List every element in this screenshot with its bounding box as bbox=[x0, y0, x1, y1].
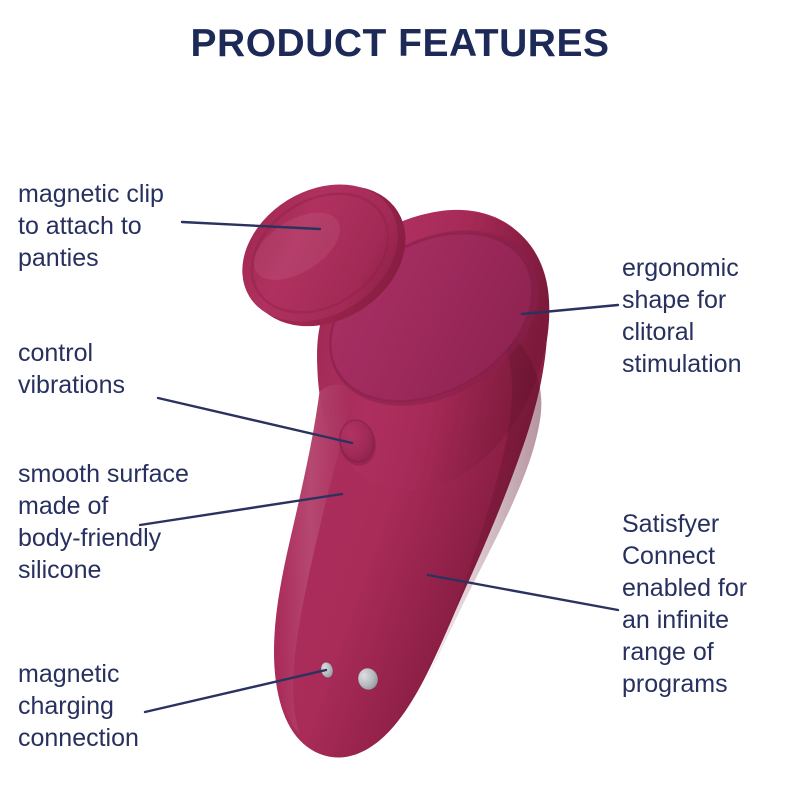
callout-control-vibrations: control vibrations bbox=[18, 337, 233, 401]
callout-magnetic-charging: magnetic charging connection bbox=[18, 658, 243, 754]
product-features-infographic: PRODUCT FEATURES bbox=[0, 0, 800, 800]
callout-magnetic-clip: magnetic clip to attach to panties bbox=[18, 178, 233, 274]
callout-smooth-surface: smooth surface made of body-friendly sil… bbox=[18, 458, 243, 586]
callout-ergonomic-shape: ergonomic shape for clitoral stimulation bbox=[622, 252, 798, 380]
callout-satisfyer-connect: Satisfyer Connect enabled for an infinit… bbox=[622, 508, 798, 700]
